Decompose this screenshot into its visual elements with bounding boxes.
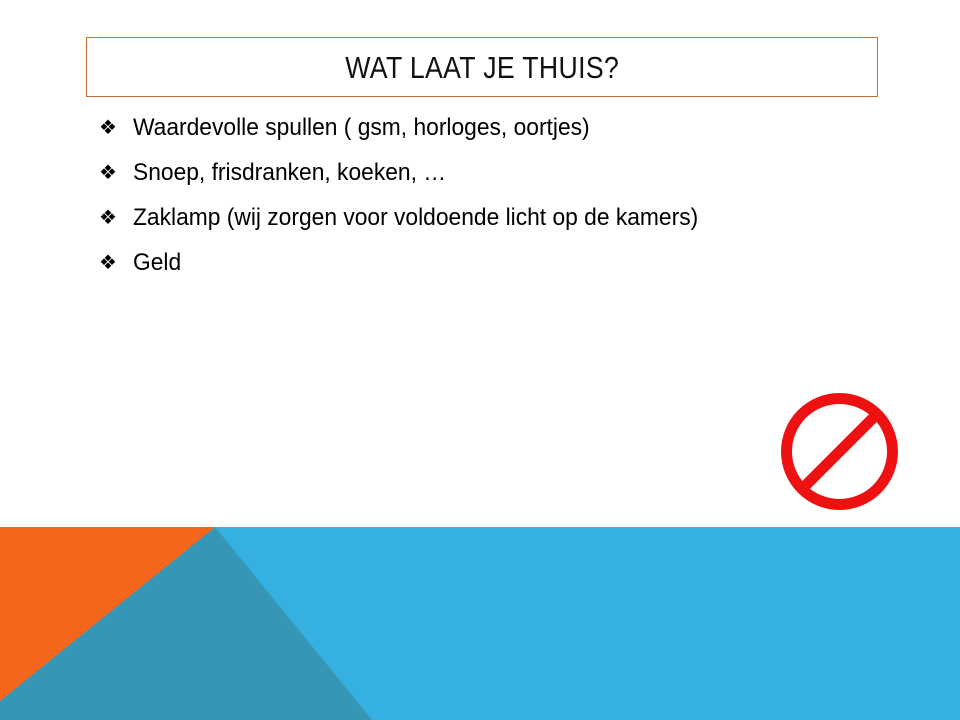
diamond-bullet-icon: ❖ <box>96 247 133 279</box>
list-item-label: Zaklamp (wij zorgen voor voldoende licht… <box>133 202 698 234</box>
list-item: ❖ Waardevolle spullen ( gsm, horloges, o… <box>96 112 856 157</box>
prohibition-slash <box>802 414 877 489</box>
slide-canvas: WAT LAAT JE THUIS? ❖ Waardevolle spullen… <box>0 0 960 720</box>
prohibition-sign-icon <box>779 391 900 512</box>
list-item: ❖ Geld <box>96 247 856 292</box>
list-item-label: Waardevolle spullen ( gsm, horloges, oor… <box>133 112 590 144</box>
diamond-bullet-icon: ❖ <box>96 112 133 144</box>
list-item-label: Geld <box>133 247 181 279</box>
title-box: WAT LAAT JE THUIS? <box>86 37 878 97</box>
diamond-bullet-icon: ❖ <box>96 157 133 189</box>
diamond-bullet-icon: ❖ <box>96 202 133 234</box>
bullet-list: ❖ Waardevolle spullen ( gsm, horloges, o… <box>96 112 856 292</box>
list-item: ❖ Snoep, frisdranken, koeken, … <box>96 157 856 202</box>
list-item-label: Snoep, frisdranken, koeken, … <box>133 157 446 189</box>
list-item: ❖ Zaklamp (wij zorgen voor voldoende lic… <box>96 202 856 247</box>
footer-decoration <box>0 527 960 720</box>
page-title: WAT LAAT JE THUIS? <box>345 52 619 83</box>
